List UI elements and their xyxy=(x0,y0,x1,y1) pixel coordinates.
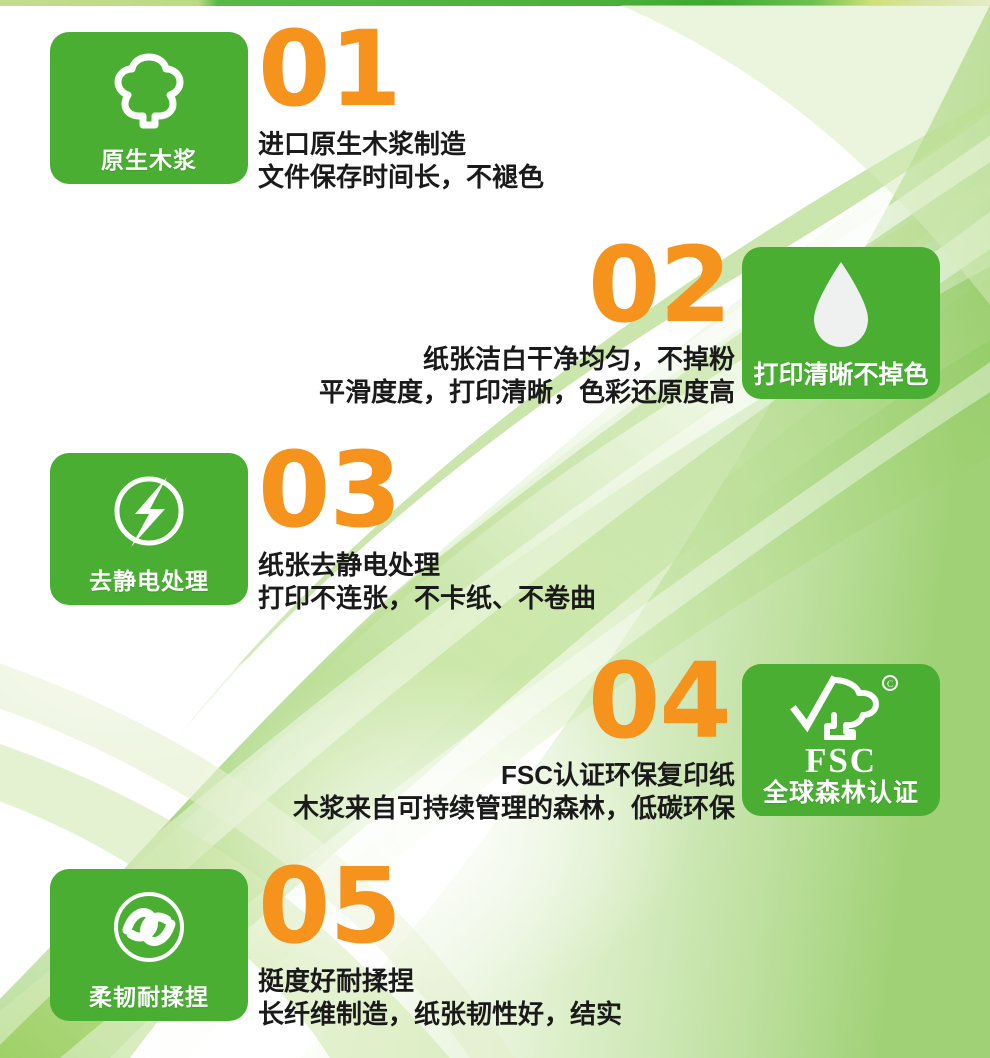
feature-card-03[interactable]: 去静电处理 xyxy=(50,453,248,605)
feature-desc-line: 平滑度度，打印清晰，色彩还原度高 xyxy=(235,376,735,409)
feature-desc-line: 长纤维制造，纸张韧性好，结实 xyxy=(258,998,622,1031)
feature-card-label: 去静电处理 xyxy=(89,566,209,596)
svg-text:C: C xyxy=(887,679,893,689)
feature-card-label: 全球森林认证 xyxy=(763,779,919,807)
feature-number-05: 05 xyxy=(258,863,401,949)
feature-card-label: 打印清晰不掉色 xyxy=(753,360,928,390)
feature-desc-05: 挺度好耐揉捏 长纤维制造，纸张韧性好，结实 xyxy=(258,965,622,1031)
feature-desc-line: 挺度好耐揉捏 xyxy=(258,965,622,998)
feature-desc-line: 打印不连张，不卡纸、不卷曲 xyxy=(258,582,596,615)
feature-desc-line: 进口原生木浆制造 xyxy=(258,128,544,161)
fsc-wordmark: FSC xyxy=(805,743,877,779)
feature-number-01: 01 xyxy=(258,26,401,112)
feature-number-02: 02 xyxy=(588,242,731,328)
flex-wave-circle-icon xyxy=(50,883,248,971)
feature-number-03: 03 xyxy=(258,447,401,533)
feature-desc-line: 纸张去静电处理 xyxy=(258,549,596,582)
fsc-tree-check-icon: C xyxy=(777,674,905,745)
feature-card-05[interactable]: 柔韧耐揉捏 xyxy=(50,869,248,1021)
tree-icon xyxy=(50,46,248,134)
feature-desc-04: FSC认证环保复印纸 木浆来自可持续管理的森林，低碳环保 xyxy=(225,759,735,825)
feature-card-label: 原生木浆 xyxy=(101,145,197,175)
feature-desc-line: 纸张洁白干净均匀，不掉粉 xyxy=(235,343,735,376)
feature-card-04[interactable]: C FSC 全球森林认证 xyxy=(742,664,940,816)
lightning-bolt-icon xyxy=(50,467,248,555)
feature-number-04: 04 xyxy=(588,658,731,744)
feature-desc-02: 纸张洁白干净均匀，不掉粉 平滑度度，打印清晰，色彩还原度高 xyxy=(235,343,735,409)
feature-card-01[interactable]: 原生木浆 xyxy=(50,32,248,184)
feature-infographic-page: 原生木浆 01 进口原生木浆制造 文件保存时间长，不褪色 打印清晰不掉色 02 … xyxy=(0,0,990,1058)
feature-card-label: 柔韧耐揉捏 xyxy=(89,982,209,1012)
feature-desc-line: 文件保存时间长，不褪色 xyxy=(258,161,544,194)
water-drop-icon xyxy=(742,261,940,349)
feature-desc-line: 木浆来自可持续管理的森林，低碳环保 xyxy=(225,792,735,825)
feature-desc-03: 纸张去静电处理 打印不连张，不卡纸、不卷曲 xyxy=(258,549,596,615)
feature-desc-line: FSC认证环保复印纸 xyxy=(225,759,735,792)
feature-desc-01: 进口原生木浆制造 文件保存时间长，不褪色 xyxy=(258,128,544,194)
feature-card-02[interactable]: 打印清晰不掉色 xyxy=(742,247,940,399)
